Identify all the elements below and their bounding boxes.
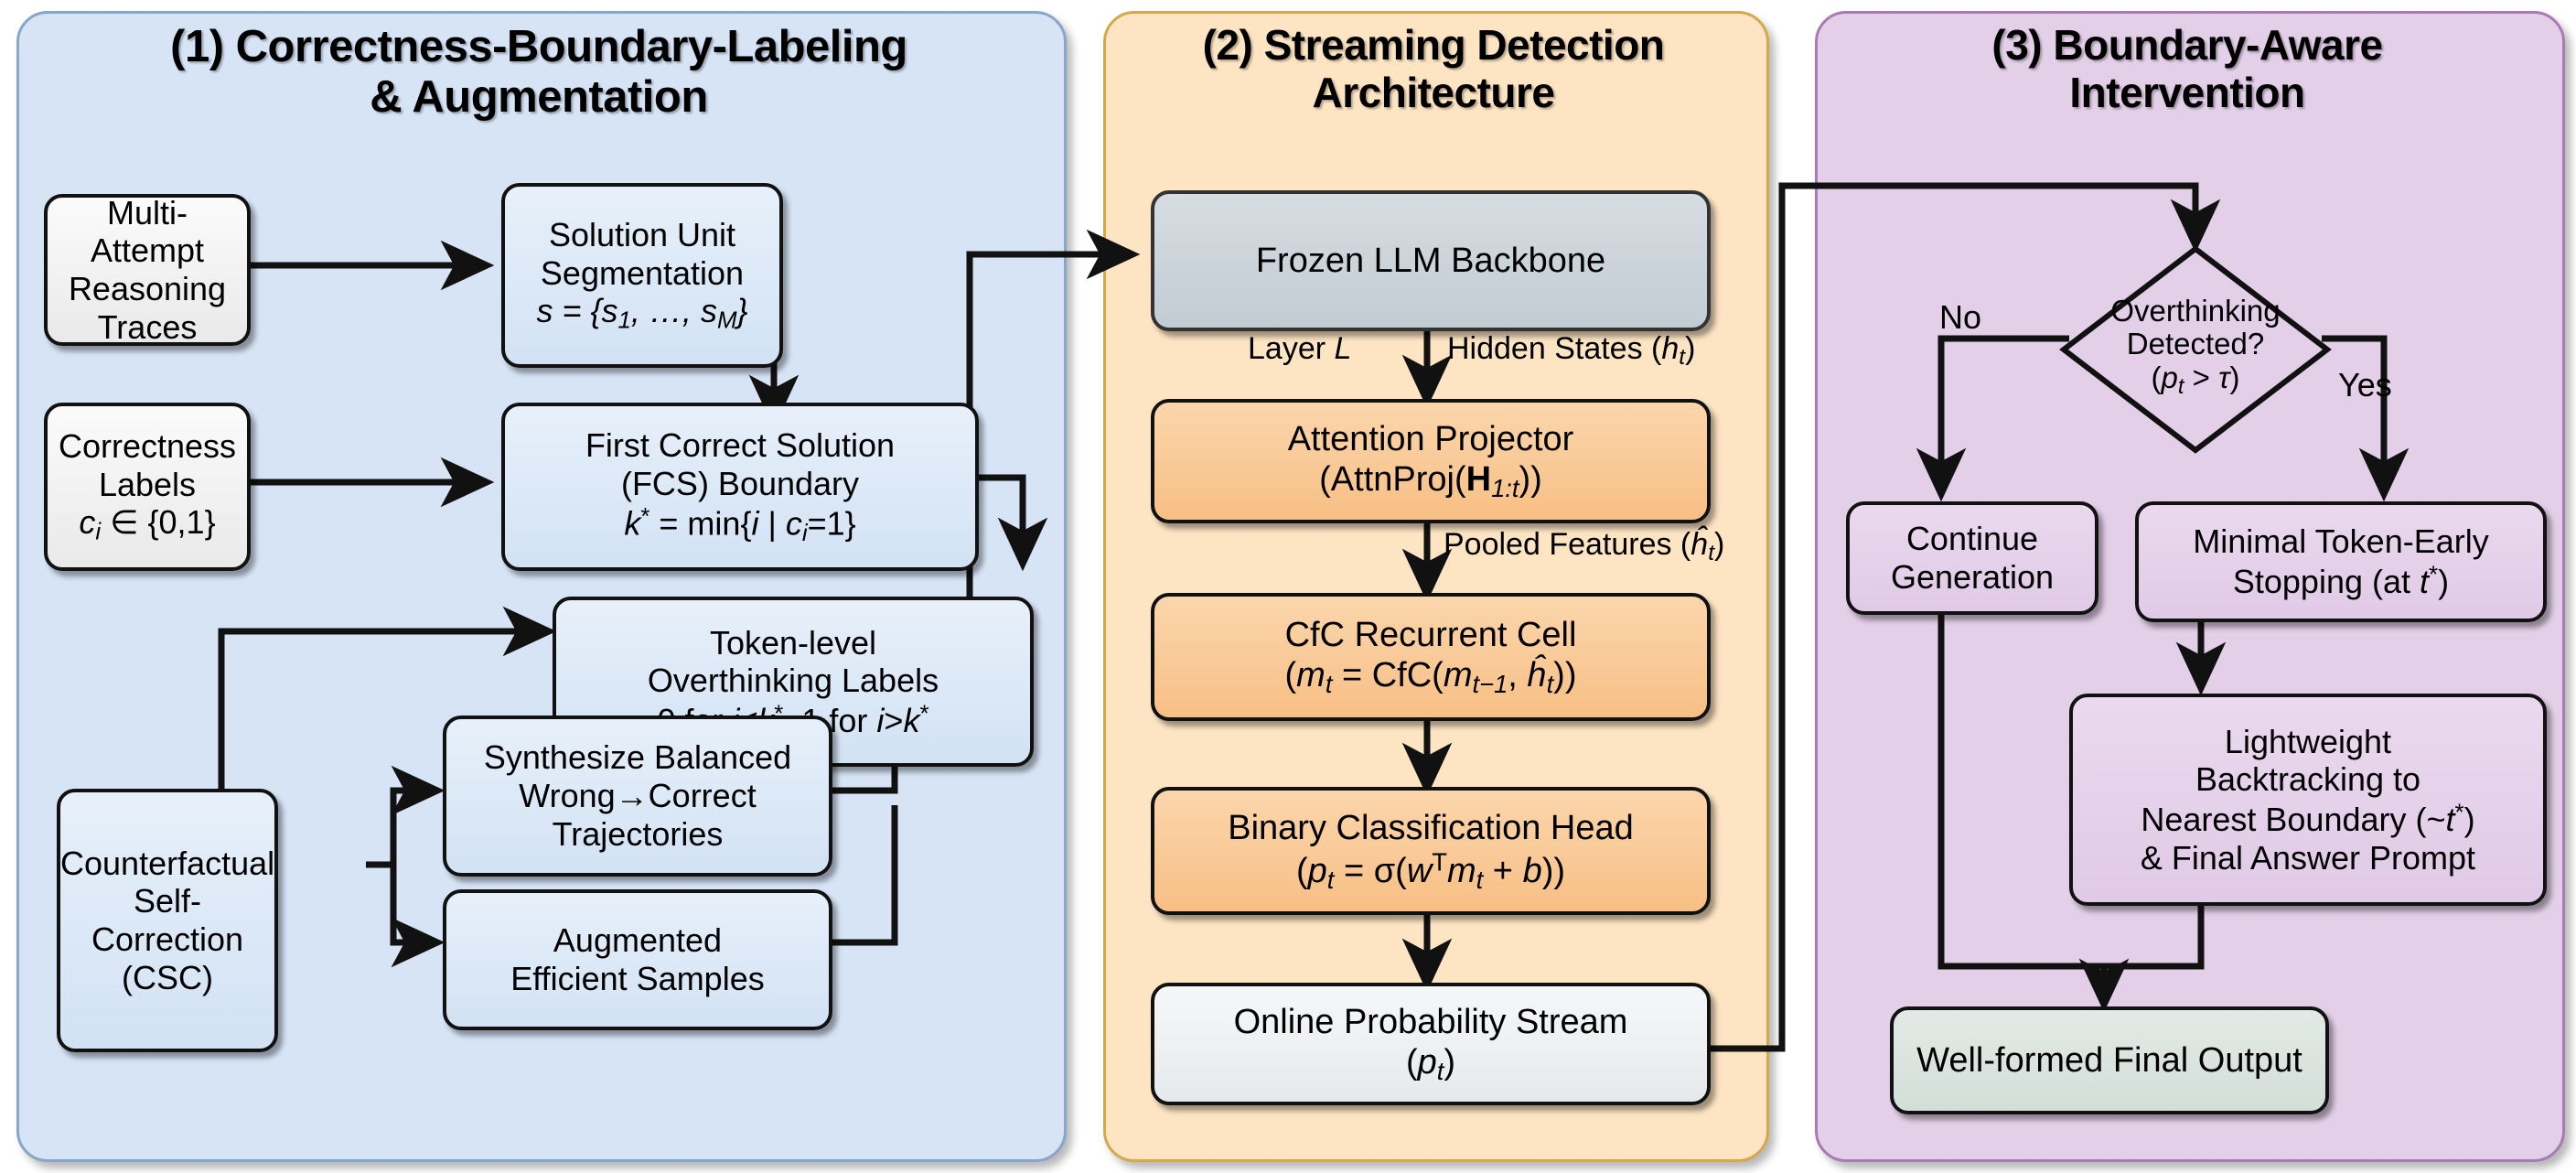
node-continue-line2: Generation [1891,558,2054,596]
node-minimal-token-early-stopping[interactable]: Minimal Token-Early Stopping (at t*) [2135,501,2547,622]
node-continue-generation[interactable]: Continue Generation [1846,501,2098,615]
node-backtracking-line4: & Final Answer Prompt [2141,839,2475,877]
node-well-formed-final-output[interactable]: Well-formed Final Output [1890,1006,2329,1114]
decision-formula: (pt > τ) [2078,361,2313,399]
node-lightweight-backtracking[interactable]: Lightweight Backtracking to Nearest Boun… [2069,694,2547,906]
node-final-output-label: Well-formed Final Output [1916,1041,2302,1080]
branch-label-no: No [1939,298,1981,337]
branch-label-yes: Yes [2338,366,2392,404]
node-continue-line1: Continue [1906,520,2038,557]
node-backtracking-line1: Lightweight [2225,723,2391,760]
node-earlystop-line1: Minimal Token-Early [2193,522,2488,560]
decision-line1: Overthinking [2078,295,2313,328]
node-overthinking-decision[interactable]: Overthinking Detected? (pt > τ) [2078,295,2313,399]
node-backtracking-line2: Backtracking to [2195,760,2420,798]
decision-line2: Detected? [2078,328,2313,361]
node-backtracking-line3: Nearest Boundary (~t*) [2141,801,2474,838]
node-earlystop-formula: Stopping (at t*) [2233,563,2449,600]
